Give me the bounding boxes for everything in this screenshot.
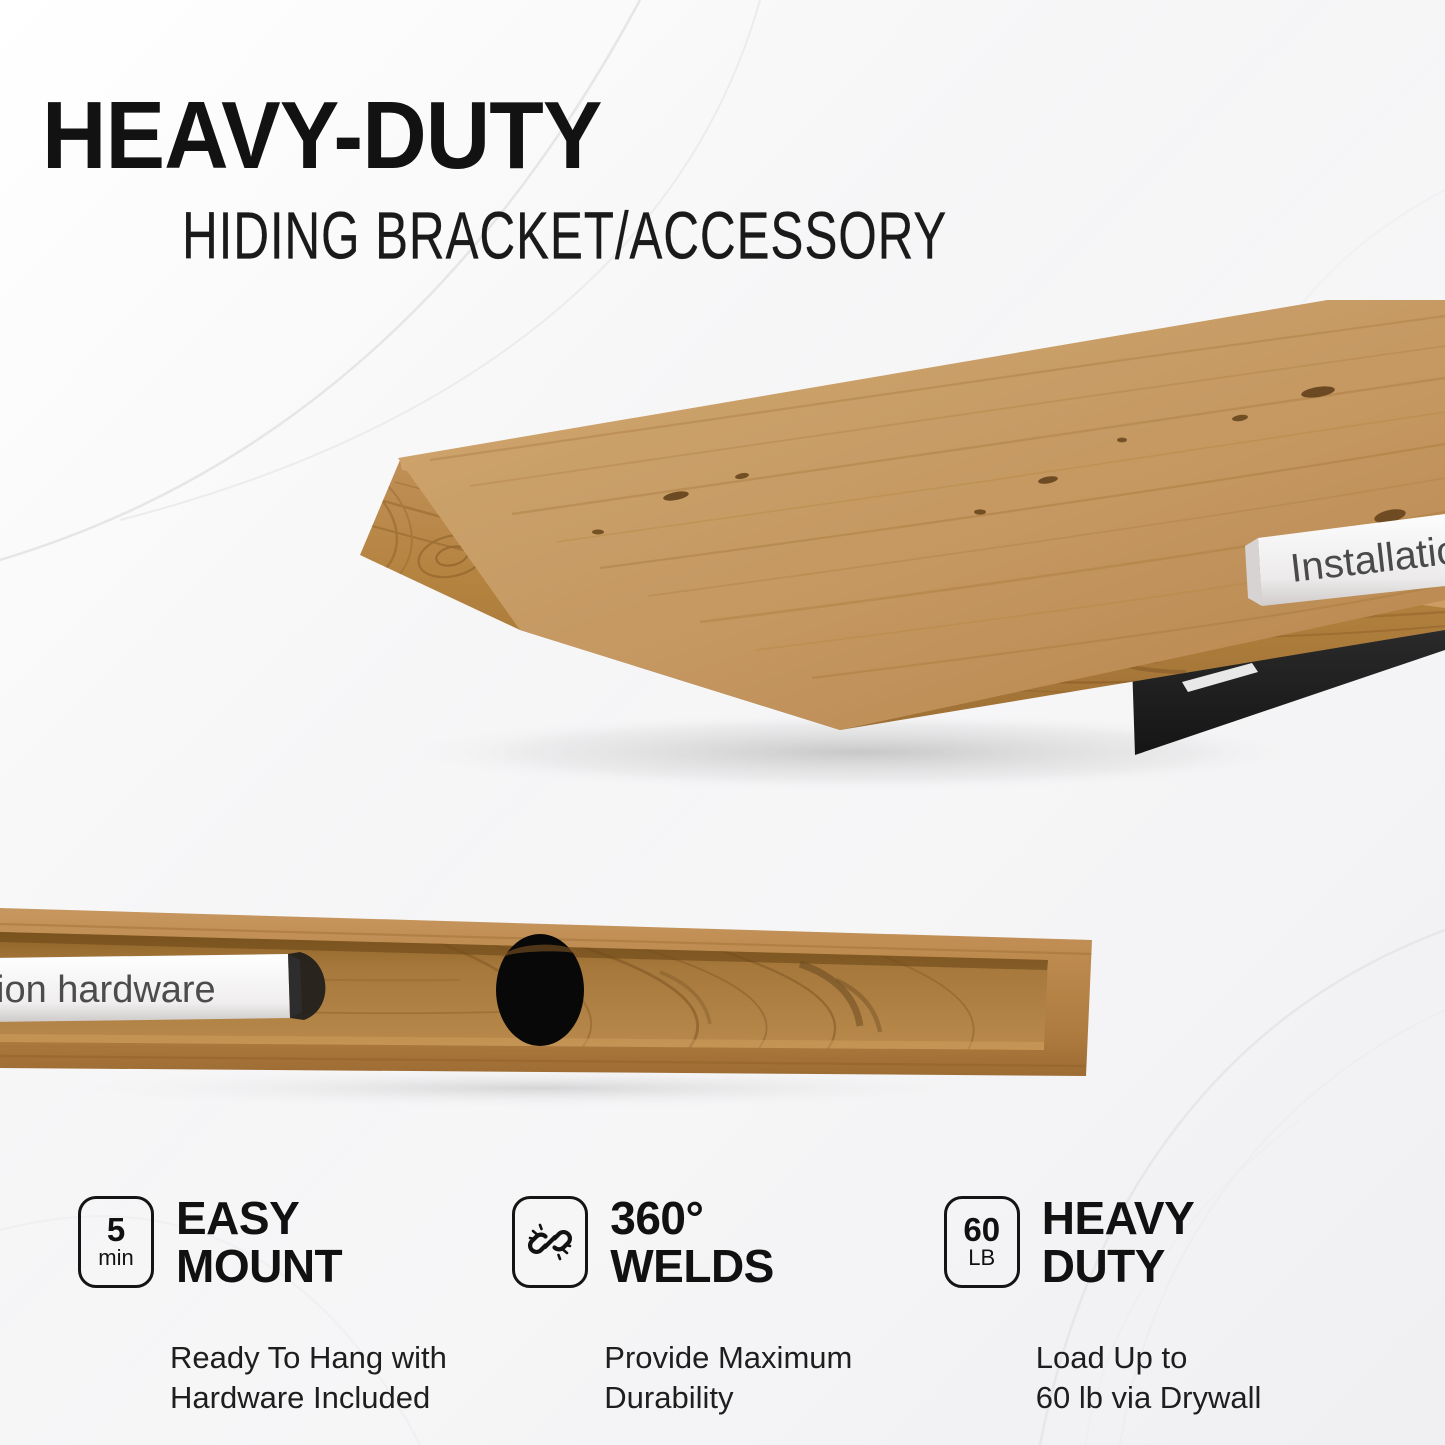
feature-desc-line1: Load Up to [1036,1338,1378,1378]
page-title: HEAVY-DUTY [42,88,1065,184]
product-infographic: HEAVY-DUTY HIDING BRACKET/ACCESSORY [0,0,1445,1445]
badge-number: 5 [107,1214,125,1245]
feature-heading-line2: WELDS [610,1240,774,1292]
installation-card-inserted: ion hardware [0,952,325,1022]
feature-heavy-duty: 60 LB HEAVY DUTY Load Up to 60 lb via Dr… [944,1196,1378,1418]
feature-desc-line2: 60 lb via Drywall [1036,1378,1378,1418]
product-photo-angled-shelf: Installatio [0,300,1445,820]
feature-desc-line2: Hardware Included [170,1378,512,1418]
feature-desc-line2: Durability [604,1378,943,1418]
badge-number: 60 [963,1214,1000,1245]
feature-heading-line1: 360° [610,1192,774,1244]
headline-block: HEAVY-DUTY HIDING BRACKET/ACCESSORY [42,88,1142,268]
feature-row: 5 min EASY MOUNT Ready To Hang with Hard… [78,1196,1378,1418]
feature-heading-line2: DUTY [1042,1240,1195,1292]
weight-badge-icon: 60 LB [944,1196,1020,1288]
timer-badge-icon: 5 min [78,1196,154,1288]
feature-description: Provide Maximum Durability [604,1338,943,1418]
product-photo-channel-detail: ion hardware [0,880,1160,1130]
badge-unit: LB [968,1246,995,1270]
feature-heading-line1: HEAVY [1042,1192,1195,1244]
page-subtitle: HIDING BRACKET/ACCESSORY [182,204,950,271]
feature-easy-mount: 5 min EASY MOUNT Ready To Hang with Hard… [78,1196,512,1418]
chain-link-weld-icon [512,1196,588,1288]
feature-description: Load Up to 60 lb via Drywall [1036,1338,1378,1418]
feature-360-welds: 360° WELDS Provide Maximum Durability [512,1196,943,1418]
feature-heading-line1: EASY [176,1192,342,1244]
installation-card-label-2: ion hardware [0,969,216,1011]
feature-desc-line1: Ready To Hang with [170,1338,512,1378]
feature-heading-line2: MOUNT [176,1240,342,1292]
feature-desc-line1: Provide Maximum [604,1338,943,1378]
badge-unit: min [98,1246,133,1270]
feature-description: Ready To Hang with Hardware Included [170,1338,512,1418]
